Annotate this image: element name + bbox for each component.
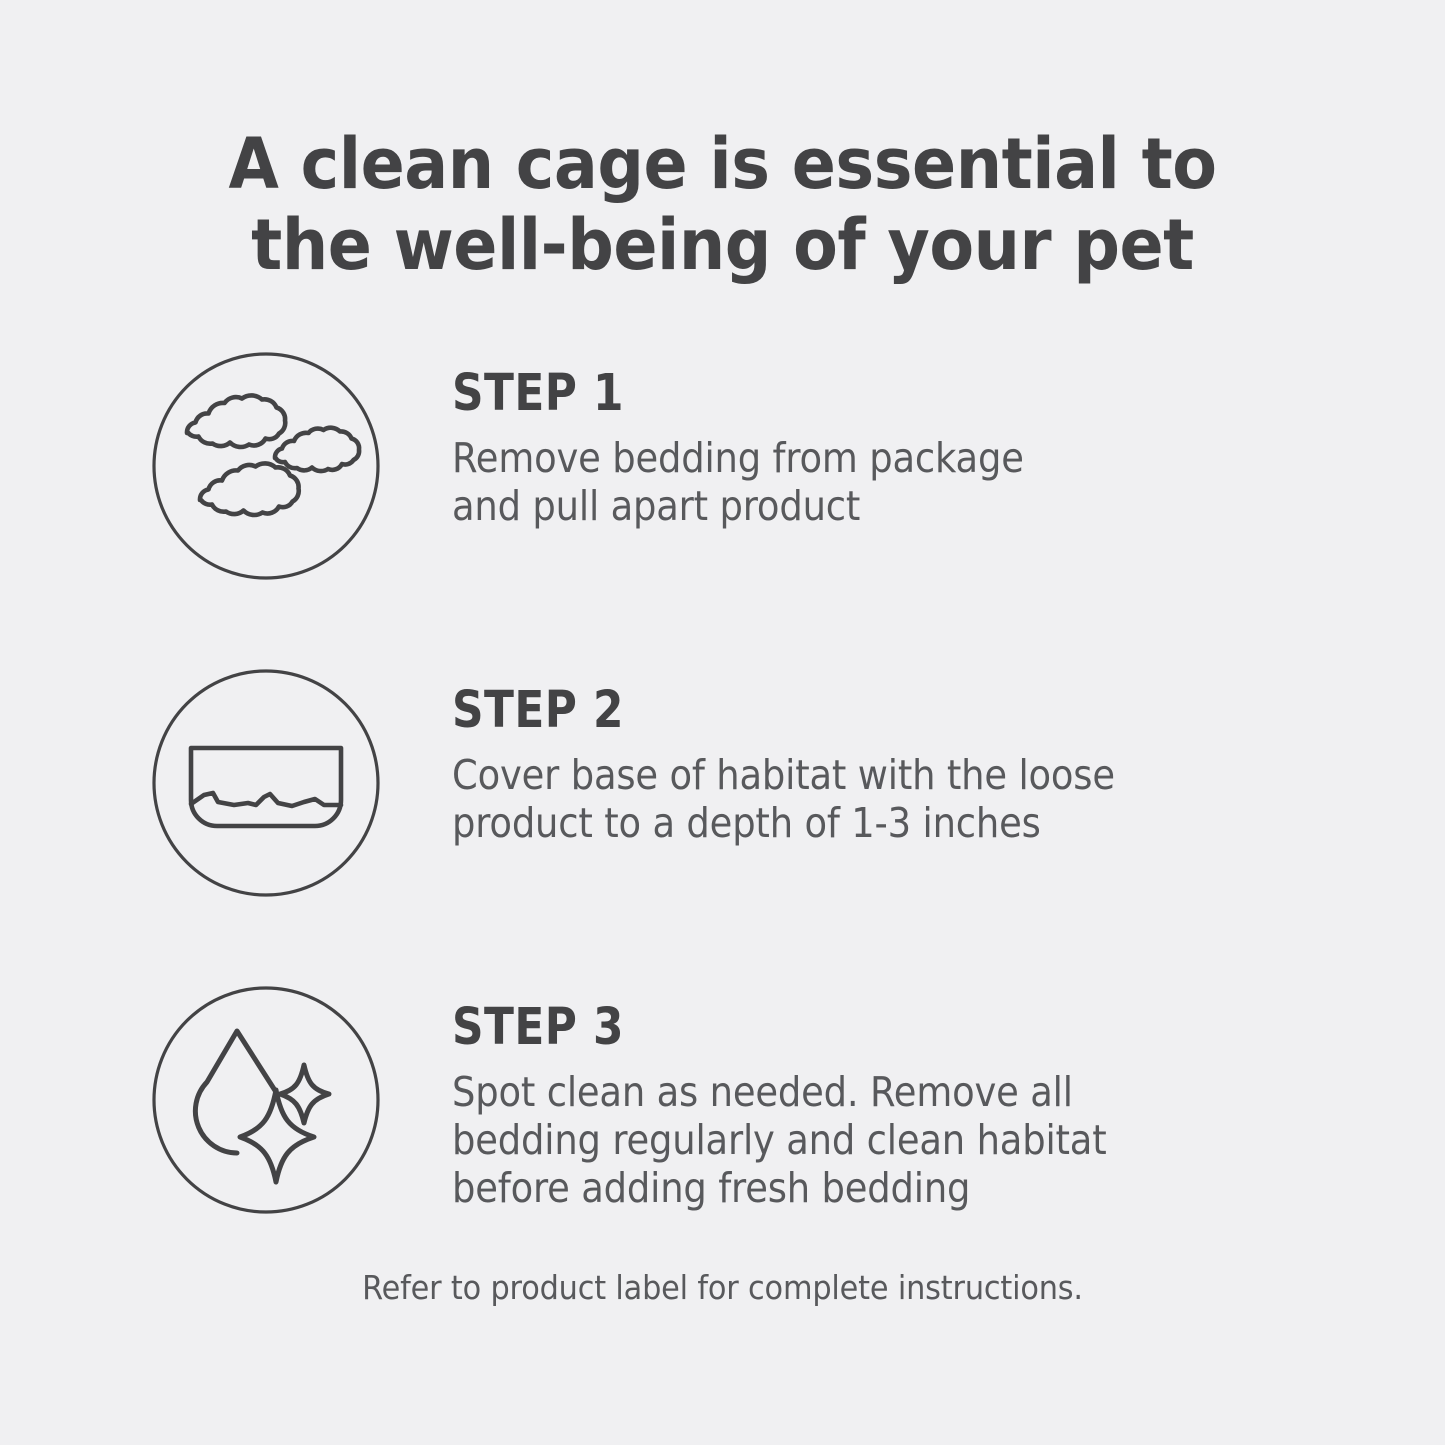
droplet-sparkle-icon xyxy=(152,986,380,1214)
step-3-body-line-3: before adding fresh bedding xyxy=(452,1165,1262,1213)
step-item-2: STEP 2 Cover base of habitat with the lo… xyxy=(0,657,1445,952)
infographic-page: A clean cage is essential to the well-be… xyxy=(0,0,1445,1445)
step-1-body-line-2: and pull apart product xyxy=(452,483,1262,531)
bedding-clouds-icon xyxy=(152,352,380,580)
step-1-body: Remove bedding from package and pull apa… xyxy=(452,435,1262,531)
step-2-body-line-1: Cover base of habitat with the loose xyxy=(452,752,1262,800)
step-item-1: STEP 1 Remove bedding from package and p… xyxy=(0,340,1445,635)
step-2-title: STEP 2 xyxy=(452,685,1226,736)
step-2-body: Cover base of habitat with the loose pro… xyxy=(452,752,1262,848)
steps-list: STEP 1 Remove bedding from package and p… xyxy=(0,340,1445,1225)
step-3-body-line-2: bedding regularly and clean habitat xyxy=(452,1117,1262,1165)
step-3-body: Spot clean as needed. Remove all bedding… xyxy=(452,1069,1262,1213)
page-title: A clean cage is essential to the well-be… xyxy=(51,124,1395,286)
step-3-title: STEP 3 xyxy=(452,1002,1226,1053)
step-2-body-line-2: product to a depth of 1-3 inches xyxy=(452,800,1262,848)
step-1-body-line-1: Remove bedding from package xyxy=(452,435,1262,483)
step-1-title: STEP 1 xyxy=(452,368,1226,419)
step-1-text: STEP 1 Remove bedding from package and p… xyxy=(452,368,1352,531)
step-2-text: STEP 2 Cover base of habitat with the lo… xyxy=(452,685,1352,848)
step-3-text: STEP 3 Spot clean as needed. Remove all … xyxy=(452,1002,1352,1213)
page-title-line-2: the well-being of your pet xyxy=(51,205,1395,286)
step-3-body-line-1: Spot clean as needed. Remove all xyxy=(452,1069,1262,1117)
footer-note: Refer to product label for complete inst… xyxy=(58,1268,1387,1307)
step-item-3: STEP 3 Spot clean as needed. Remove all … xyxy=(0,974,1445,1269)
page-title-line-1: A clean cage is essential to xyxy=(51,124,1395,205)
habitat-base-icon xyxy=(152,669,380,897)
